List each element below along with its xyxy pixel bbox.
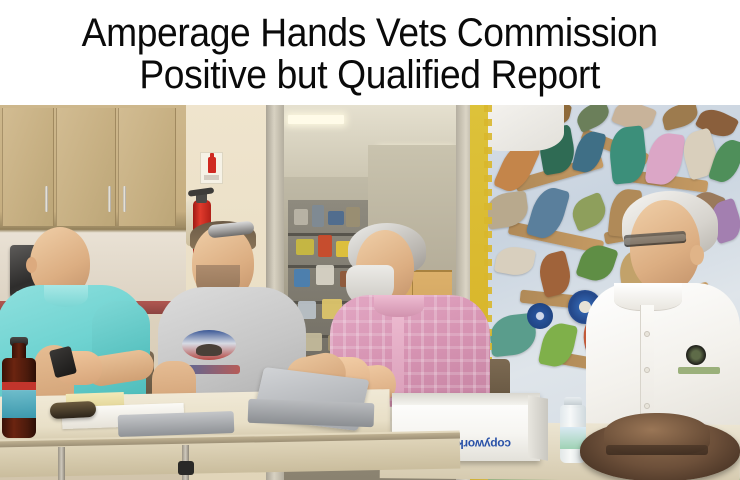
upper-cabinets: [0, 105, 190, 230]
shelf-item: [346, 207, 360, 227]
table-leg: [58, 447, 65, 480]
cabinet-handle: [123, 186, 126, 212]
eagle-icon: [196, 344, 222, 356]
shelf-item: [296, 239, 314, 255]
shelf-item: [294, 269, 310, 287]
shirt-button: [644, 331, 650, 337]
headline-line-1: Amperage Hands Vets Commission: [82, 13, 658, 54]
cabinet-handle: [45, 186, 48, 212]
extinguisher-pictogram-icon: [208, 157, 216, 173]
shirt-button: [644, 367, 650, 373]
sign-text-block: [204, 175, 219, 180]
shelf-item: [328, 211, 344, 225]
ear: [690, 245, 704, 265]
mural-leaf: [660, 105, 700, 131]
cabinet-door: [56, 108, 116, 226]
shelf-item: [316, 265, 334, 285]
ear: [26, 257, 37, 273]
headline-line-2: Positive but Qualified Report: [140, 55, 601, 96]
mural-leaf: [494, 244, 536, 278]
polo-collar: [44, 285, 88, 307]
hat-band: [606, 445, 708, 455]
sunglasses-on-table: [50, 401, 97, 419]
mural-leaf: [568, 192, 611, 233]
shelf-item: [318, 235, 332, 257]
box-side-panel: [528, 395, 548, 461]
laptop-lid-lower: [248, 399, 375, 427]
shirt-collar: [374, 295, 424, 317]
laptop-base: [118, 411, 235, 437]
fire-extinguisher-sign: [200, 152, 223, 184]
mural-white-paper-corner: [484, 105, 564, 151]
box-open-lip: [392, 393, 540, 405]
page-root: Amperage Hands Vets Commission Positive …: [0, 0, 740, 480]
meeting-photograph: copyworks: [0, 105, 740, 480]
shelf-item: [312, 205, 324, 227]
shirt-logo-text: [678, 367, 720, 374]
ceiling-light: [288, 115, 344, 124]
shirt-button: [644, 403, 650, 409]
shelf-item: [294, 209, 308, 225]
bottle-label: [2, 390, 36, 418]
mural-leaf: [571, 128, 606, 175]
blue-ribbon-rosette-small: [527, 303, 553, 329]
cabinet-door: [118, 108, 176, 226]
shirt-logo-emblem: [686, 345, 706, 365]
headline-banner: Amperage Hands Vets Commission Positive …: [0, 0, 740, 105]
mural-leaf: [573, 105, 613, 133]
table-leg-foot: [178, 461, 194, 475]
cabinet-door: [2, 108, 54, 226]
cabinet-handle: [108, 186, 111, 212]
